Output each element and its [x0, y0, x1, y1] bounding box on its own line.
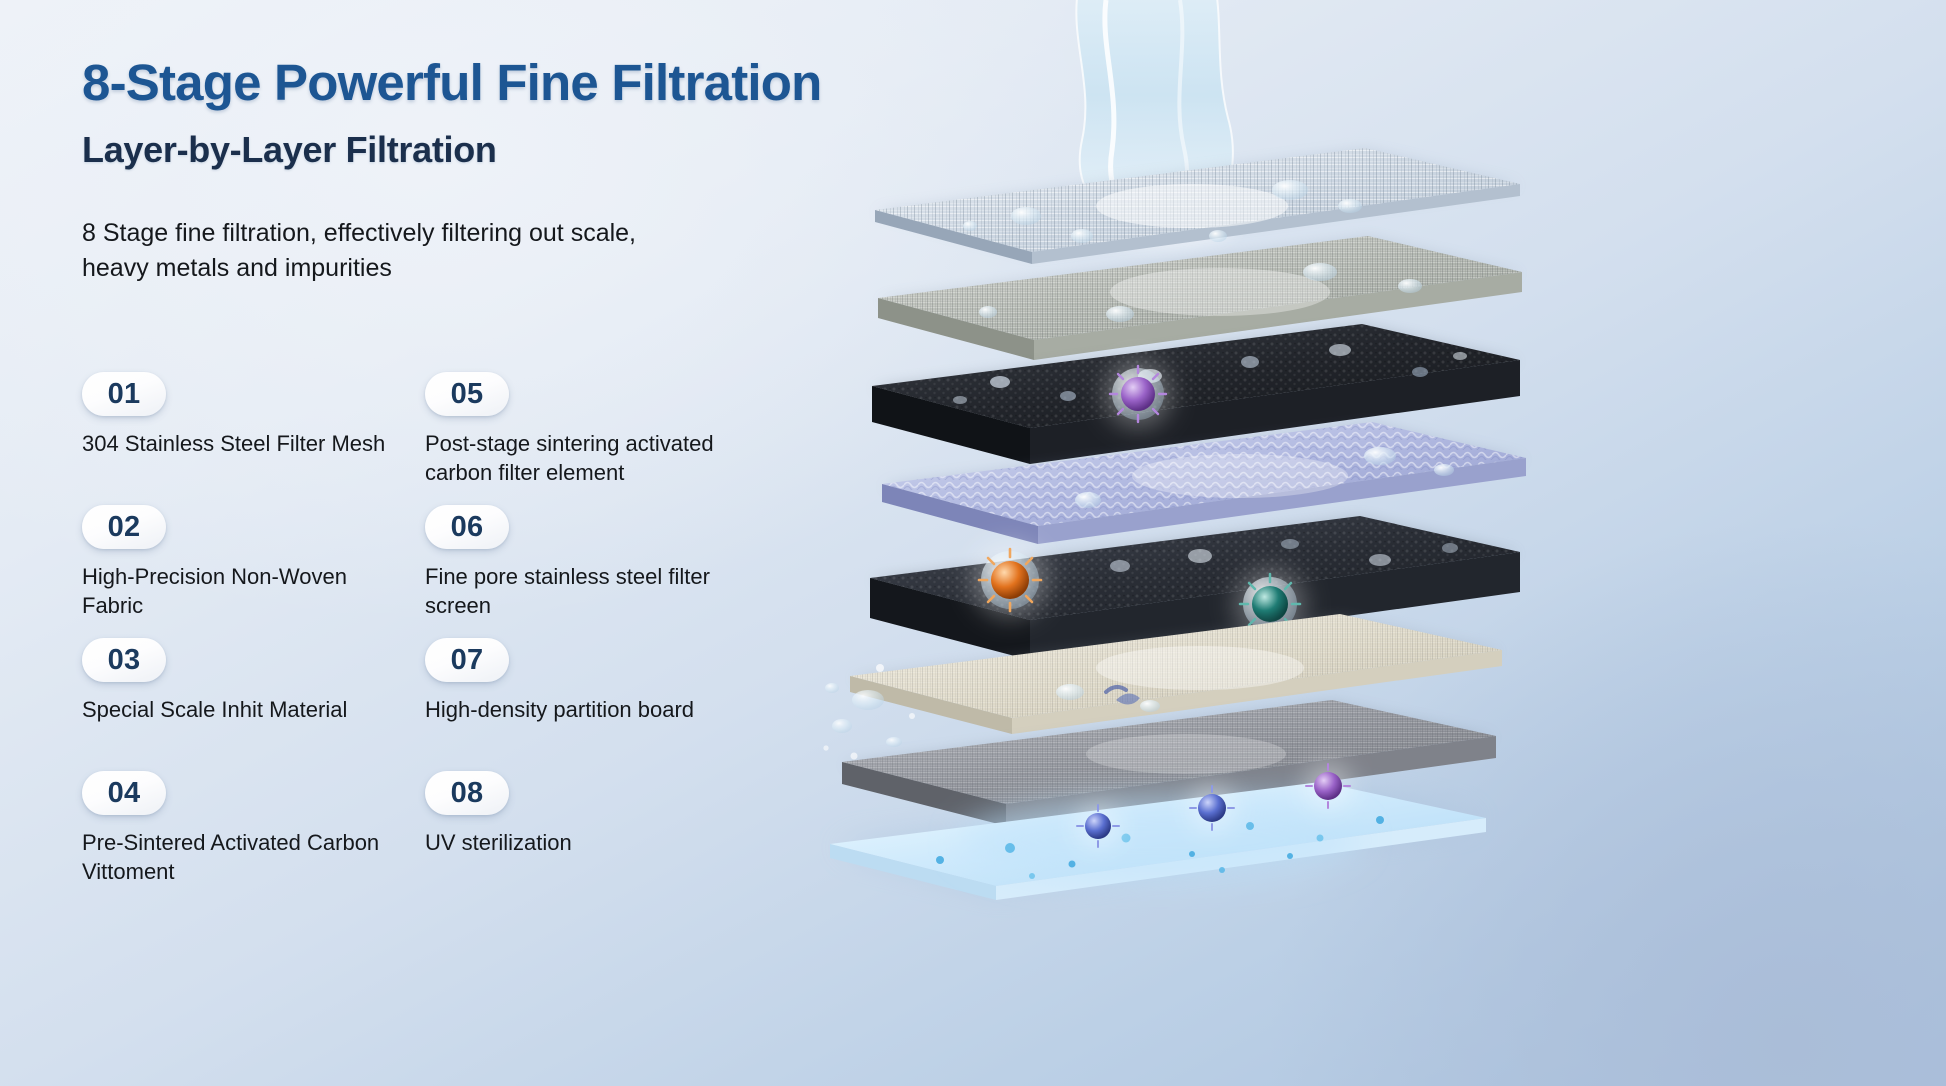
feature-item-07: 07 High-density partition board — [425, 638, 782, 771]
page-title: 8-Stage Powerful Fine Filtration — [82, 56, 842, 110]
feature-label-06: Fine pore stainless steel filter screen — [425, 562, 745, 621]
feature-item-04: 04 Pre-Sintered Activated Carbon Vittome… — [82, 771, 425, 904]
feature-item-02: 02 High-Precision Non-Woven Fabric — [82, 505, 425, 638]
page-description: 8 Stage fine filtration, effectively fil… — [82, 216, 682, 287]
purple-microbe-icon — [1304, 762, 1352, 810]
feature-badge-04: 04 — [82, 771, 166, 815]
feature-label-03: Special Scale Inhit Material — [82, 695, 402, 724]
feature-badge-02: 02 — [82, 505, 166, 549]
feature-item-06: 06 Fine pore stainless steel filter scre… — [425, 505, 782, 638]
blue-microbe-icon — [1076, 804, 1120, 848]
feature-label-07: High-density partition board — [425, 695, 745, 724]
feature-badge-03: 03 — [82, 638, 166, 682]
text-panel: 8-Stage Powerful Fine Filtration Layer-b… — [82, 56, 842, 287]
feature-badge-01: 01 — [82, 372, 166, 416]
feature-item-03: 03 Special Scale Inhit Material — [82, 638, 425, 771]
feature-item-05: 05 Post-stage sintering activated carbon… — [425, 372, 782, 505]
page-subtitle: Layer-by-Layer Filtration — [82, 130, 842, 170]
filter-stack-illustration — [820, 0, 1946, 1086]
feature-label-01: 304 Stainless Steel Filter Mesh — [82, 429, 402, 458]
feature-badge-08: 08 — [425, 771, 509, 815]
feature-item-01: 01 304 Stainless Steel Filter Mesh — [82, 372, 425, 505]
feature-label-04: Pre-Sintered Activated Carbon Vittoment — [82, 828, 402, 887]
feature-label-05: Post-stage sintering activated carbon fi… — [425, 429, 745, 488]
feature-badge-07: 07 — [425, 638, 509, 682]
feature-list: 01 304 Stainless Steel Filter Mesh 05 Po… — [82, 372, 782, 904]
orange-microbe-icon — [972, 542, 1048, 618]
feature-badge-05: 05 — [425, 372, 509, 416]
feature-item-08: 08 UV sterilization — [425, 771, 782, 904]
purple-microbe-icon — [1104, 360, 1172, 428]
feature-label-02: High-Precision Non-Woven Fabric — [82, 562, 402, 621]
blue-microbe-icon — [1188, 784, 1236, 832]
feature-label-08: UV sterilization — [425, 828, 745, 857]
feature-badge-06: 06 — [425, 505, 509, 549]
